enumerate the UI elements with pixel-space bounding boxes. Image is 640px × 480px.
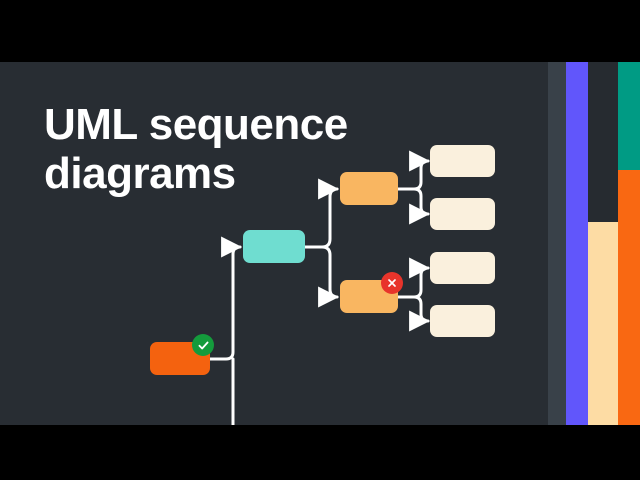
edge-start-to-hub [210, 247, 240, 359]
check-icon[interactable] [192, 334, 214, 356]
diagram-node-branch-upper[interactable] [340, 172, 398, 205]
diagram-node-leaf-1[interactable] [430, 145, 495, 177]
diagram-node-leaf-3[interactable] [430, 252, 495, 284]
letterbox-top [0, 0, 640, 62]
diagram-node-leaf-4[interactable] [430, 305, 495, 337]
x-mark-icon[interactable] [381, 272, 403, 294]
letterbox-bottom [0, 425, 640, 480]
edge-hub-to-branch-lower [305, 247, 337, 297]
connector-layer [0, 62, 640, 425]
edge-branch-upper-to-leaf-1 [398, 161, 428, 189]
edge-branch-upper-to-leaf-2 [398, 189, 428, 214]
edge-branch-lower-to-leaf-4 [398, 297, 428, 321]
edge-hub-to-branch-upper [305, 189, 337, 247]
screenshot-stage: UML sequence diagrams [0, 0, 640, 480]
diagram-canvas: UML sequence diagrams [0, 62, 640, 425]
diagram-node-leaf-2[interactable] [430, 198, 495, 230]
diagram-node-hub[interactable] [243, 230, 305, 263]
